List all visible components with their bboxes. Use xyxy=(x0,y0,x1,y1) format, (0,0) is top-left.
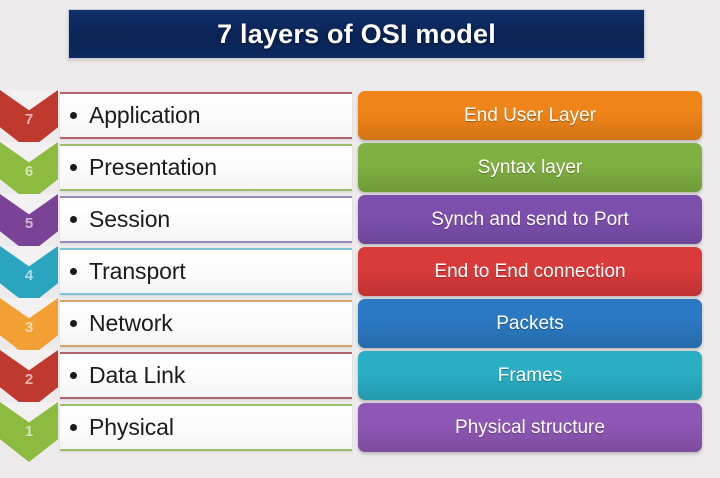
page-title: 7 layers of OSI model xyxy=(217,19,496,50)
bullet-icon xyxy=(70,372,77,379)
layer-description-label: End User Layer xyxy=(464,105,596,127)
layer-description-label: End to End connection xyxy=(434,261,625,283)
layer-name-label: Transport xyxy=(89,258,186,285)
layer-name-label: Data Link xyxy=(89,362,185,389)
layer-name-plate[interactable]: Presentation xyxy=(60,144,352,191)
layer-chevron-arrow: 7 xyxy=(0,90,58,150)
layer-name-label: Network xyxy=(89,310,173,337)
layer-description-label: Syntax layer xyxy=(478,157,583,179)
layer-name-plate[interactable]: Data Link xyxy=(60,352,352,399)
layer-name-label: Physical xyxy=(89,414,174,441)
layer-description-box[interactable]: End User Layer xyxy=(358,91,702,140)
bullet-icon xyxy=(70,164,77,171)
layer-chevron-arrow: 3 xyxy=(0,298,58,358)
layer-row: 5SessionSynch and send to Port xyxy=(0,194,720,246)
layer-number: 3 xyxy=(25,319,33,336)
layer-name-plate[interactable]: Transport xyxy=(60,248,352,295)
layer-chevron-arrow: 1 xyxy=(0,402,58,462)
layer-name-label: Session xyxy=(89,206,170,233)
layer-row: 4TransportEnd to End connection xyxy=(0,246,720,298)
layer-name-label: Presentation xyxy=(89,154,217,181)
diagram-title-banner: 7 layers of OSI model xyxy=(68,9,645,59)
bullet-icon xyxy=(70,424,77,431)
layer-row: 6PresentationSyntax layer xyxy=(0,142,720,194)
layer-row: 3NetworkPackets xyxy=(0,298,720,350)
layer-number: 1 xyxy=(25,423,33,440)
layer-description-label: Synch and send to Port xyxy=(431,209,629,231)
layer-name-plate[interactable]: Physical xyxy=(60,404,352,451)
layer-row: 7ApplicationEnd User Layer xyxy=(0,90,720,142)
layer-description-box[interactable]: End to End connection xyxy=(358,247,702,296)
layer-description-box[interactable]: Synch and send to Port xyxy=(358,195,702,244)
layer-row: 2Data LinkFrames xyxy=(0,350,720,402)
layer-description-box[interactable]: Frames xyxy=(358,351,702,400)
layer-name-plate[interactable]: Session xyxy=(60,196,352,243)
layer-description-box[interactable]: Packets xyxy=(358,299,702,348)
bullet-icon xyxy=(70,268,77,275)
layer-chevron-arrow: 4 xyxy=(0,246,58,306)
layer-description-box[interactable]: Physical structure xyxy=(358,403,702,452)
layer-description-label: Packets xyxy=(496,313,564,335)
layer-chevron-arrow: 6 xyxy=(0,142,58,202)
layer-number: 4 xyxy=(25,267,33,284)
layer-number: 7 xyxy=(25,111,33,128)
layer-description-box[interactable]: Syntax layer xyxy=(358,143,702,192)
bullet-icon xyxy=(70,216,77,223)
layer-chevron-arrow: 5 xyxy=(0,194,58,254)
bullet-icon xyxy=(70,320,77,327)
osi-layers-diagram: 7ApplicationEnd User Layer6PresentationS… xyxy=(0,90,720,478)
layer-chevron-arrow: 2 xyxy=(0,350,58,410)
layer-description-label: Physical structure xyxy=(455,417,605,439)
layer-description-label: Frames xyxy=(498,365,562,387)
bullet-icon xyxy=(70,112,77,119)
layer-number: 2 xyxy=(25,371,33,388)
layer-number: 6 xyxy=(25,163,33,180)
layer-name-plate[interactable]: Network xyxy=(60,300,352,347)
layer-name-label: Application xyxy=(89,102,200,129)
layer-row: 1PhysicalPhysical structure xyxy=(0,402,720,454)
layer-name-plate[interactable]: Application xyxy=(60,92,352,139)
layer-number: 5 xyxy=(25,215,33,232)
